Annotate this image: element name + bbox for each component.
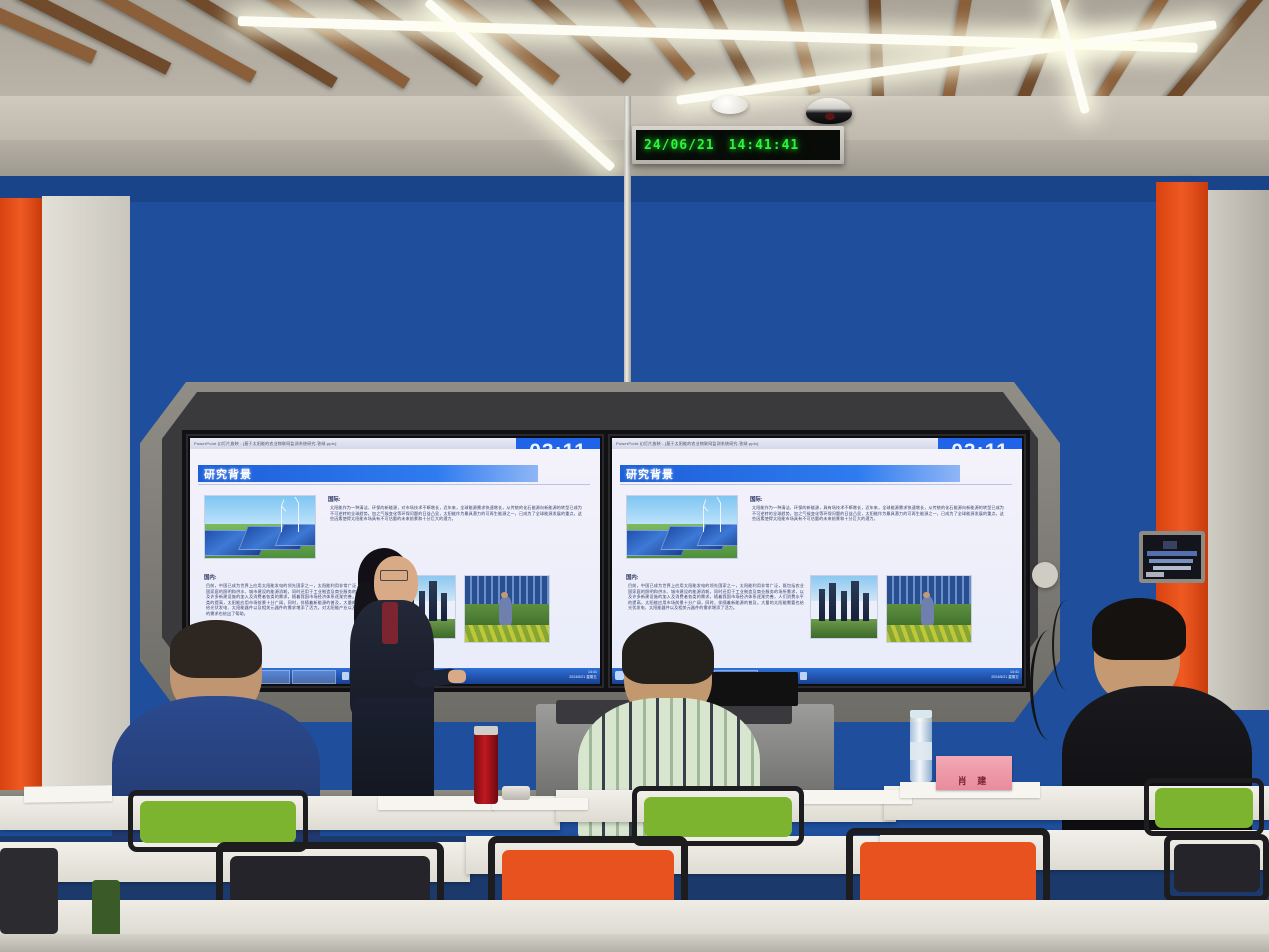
section-text-domestic-right: 目前，中国已成为世界上应用太阳能发电的领先国家之一，太阳能利用非常广泛，既包括农… bbox=[628, 583, 804, 611]
thermos-cap bbox=[474, 726, 498, 735]
wall-speaker bbox=[1032, 562, 1058, 588]
wall-mounted-camera-feed-monitor[interactable] bbox=[1139, 531, 1205, 583]
lanyard bbox=[382, 602, 398, 644]
ceiling-dome-camera bbox=[806, 98, 852, 124]
section-label-domestic: 国内: bbox=[204, 573, 217, 581]
led-clock-display: 24/06/21 14:41:41 bbox=[632, 126, 844, 164]
chair-dark-front-2[interactable] bbox=[1164, 834, 1269, 904]
slide-title-right: 研究背景 bbox=[626, 466, 674, 482]
ceiling-speaker bbox=[712, 96, 748, 114]
skirt bbox=[352, 698, 434, 810]
glasses bbox=[380, 570, 408, 581]
papers-stack-4 bbox=[800, 790, 912, 804]
led-date: 24/06/21 bbox=[644, 138, 715, 153]
section-text-international: 太阳能作为一种清洁、环保的新能源，对市场技术不断增长，近年来，全球能源需求快速增… bbox=[330, 505, 582, 522]
slide-title-left: 研究背景 bbox=[204, 466, 252, 482]
section-label-domestic-right: 国内: bbox=[626, 573, 639, 581]
small-container[interactable] bbox=[502, 786, 530, 800]
led-time: 14:41:41 bbox=[729, 138, 800, 153]
section-label-international-right: 国际: bbox=[750, 495, 763, 503]
wall-pillar-left bbox=[0, 198, 42, 816]
section-text-international-right: 太阳能作为一种清洁、环保的新能源，具有场技术不断增长，近年来，全球能源需求快速增… bbox=[752, 505, 1004, 522]
ceiling bbox=[0, 0, 1269, 200]
conference-room-scene: 24/06/21 14:41:41 PowerPoint 幻灯片放映 - [基于… bbox=[0, 0, 1269, 952]
chair-edge-left bbox=[0, 848, 58, 934]
chair-green-3[interactable] bbox=[1144, 778, 1264, 836]
bottle-label bbox=[910, 742, 932, 760]
bottle-cap bbox=[910, 710, 932, 718]
papers-stack-1 bbox=[24, 785, 112, 803]
name-placard-text: 肖 建 bbox=[936, 774, 1012, 787]
solar-panel-array-photo-right bbox=[626, 495, 738, 559]
name-placard: 肖 建 bbox=[936, 756, 1012, 790]
solar-panel-array-photo bbox=[204, 495, 316, 559]
presenter bbox=[336, 548, 456, 810]
section-label-international: 国际: bbox=[328, 495, 341, 503]
agrivoltaic-farmer-photo-right bbox=[886, 575, 972, 643]
floor bbox=[0, 934, 1269, 952]
hand bbox=[448, 670, 466, 683]
taskbar-clock-right: 14:41 2024/6/21 星期五 bbox=[991, 670, 1019, 680]
red-thermos[interactable] bbox=[474, 732, 498, 804]
city-towers-photo-right bbox=[810, 575, 878, 639]
agrivoltaic-farmer-photo bbox=[464, 575, 550, 643]
